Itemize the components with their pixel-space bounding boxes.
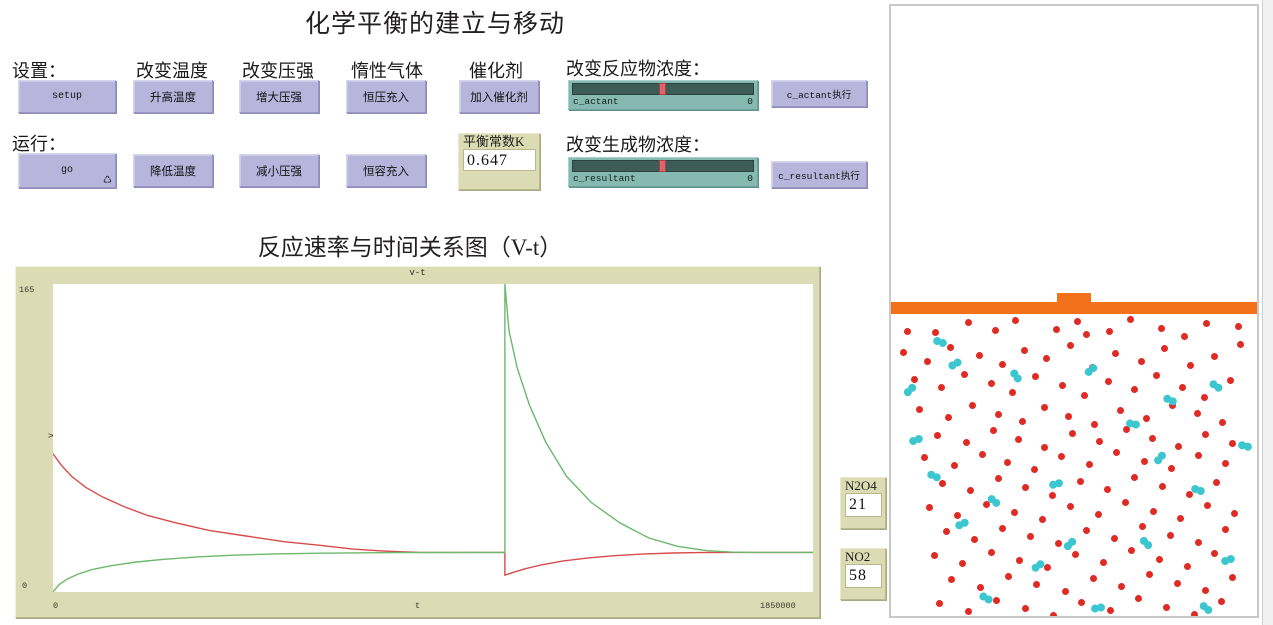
molecule-no2 bbox=[1235, 323, 1242, 330]
n2o4-count-monitor: N2O4 21 bbox=[840, 477, 886, 529]
molecule-n2o4 bbox=[1220, 554, 1236, 566]
c-actant-slider[interactable]: c_actant 0 bbox=[568, 80, 758, 110]
molecule-no2 bbox=[999, 525, 1006, 532]
molecule-no2 bbox=[1016, 557, 1023, 564]
molecule-no2 bbox=[939, 480, 946, 487]
c-actant-slider-varname: c_actant bbox=[573, 96, 619, 107]
vt-plot-widget[interactable]: v-t 165 0 v 0 1850000 t bbox=[15, 266, 820, 618]
molecule-no2 bbox=[1062, 588, 1069, 595]
molecule-no2 bbox=[1194, 410, 1201, 417]
molecule-no2 bbox=[1149, 435, 1156, 442]
molecule-no2 bbox=[1179, 384, 1186, 391]
molecule-no2 bbox=[1012, 317, 1019, 324]
go-button[interactable]: go ♺ bbox=[18, 153, 116, 188]
molecule-no2 bbox=[1049, 492, 1056, 499]
molecule-n2o4 bbox=[932, 336, 948, 348]
molecule-n2o4 bbox=[1009, 368, 1024, 384]
molecule-no2 bbox=[1058, 453, 1065, 460]
molecule-no2 bbox=[988, 549, 995, 556]
lower-temp-button-label: 降低温度 bbox=[150, 163, 196, 179]
molecule-no2 bbox=[1135, 595, 1142, 602]
molecule-no2 bbox=[1141, 458, 1148, 465]
molecule-no2 bbox=[1222, 526, 1229, 533]
add-gas-const-volume-button-label: 恒容充入 bbox=[363, 163, 409, 179]
molecule-no2 bbox=[948, 576, 955, 583]
molecule-no2 bbox=[1041, 404, 1048, 411]
molecule-no2 bbox=[945, 414, 952, 421]
piston[interactable] bbox=[891, 302, 1257, 314]
molecule-no2 bbox=[1195, 452, 1202, 459]
molecule-no2 bbox=[1107, 607, 1114, 614]
molecule-no2 bbox=[969, 402, 976, 409]
molecule-no2 bbox=[1015, 436, 1022, 443]
chart-heading: 反应速率与时间关系图（V-t） bbox=[10, 228, 810, 262]
molecule-no2 bbox=[931, 552, 938, 559]
n2o4-count-value: 21 bbox=[845, 493, 882, 517]
lower-temp-button[interactable]: 降低温度 bbox=[133, 154, 213, 187]
decrease-pressure-button-label: 减小压强 bbox=[256, 163, 302, 179]
n2o4-count-label: N2O4 bbox=[845, 479, 882, 493]
molecule-no2 bbox=[904, 328, 911, 335]
molecule-n2o4 bbox=[908, 434, 924, 446]
molecule-no2 bbox=[977, 584, 984, 591]
add-catalyst-button-label: 加入催化剂 bbox=[470, 89, 528, 105]
molecule-no2 bbox=[943, 528, 950, 535]
molecule-no2 bbox=[961, 371, 968, 378]
molecule-no2 bbox=[1184, 563, 1191, 570]
molecule-no2 bbox=[926, 504, 933, 511]
increase-pressure-button[interactable]: 增大压强 bbox=[239, 80, 319, 113]
molecule-no2 bbox=[1229, 440, 1236, 447]
molecule-n2o4 bbox=[1030, 559, 1046, 574]
x-axis-label: t bbox=[16, 601, 819, 611]
molecule-no2 bbox=[936, 600, 943, 607]
molecule-no2 bbox=[1078, 599, 1085, 606]
molecule-no2 bbox=[1111, 535, 1118, 542]
c-resultant-slider[interactable]: c_resultant 0 bbox=[568, 157, 758, 187]
molecule-no2 bbox=[1077, 478, 1084, 485]
y-axis-min-label: 0 bbox=[22, 581, 27, 591]
add-gas-const-pressure-button-label: 恒压充入 bbox=[363, 89, 409, 105]
molecule-no2 bbox=[1117, 407, 1124, 414]
molecule-no2 bbox=[1041, 444, 1048, 451]
molecule-no2 bbox=[1053, 326, 1060, 333]
molecule-no2 bbox=[932, 329, 939, 336]
molecule-no2 bbox=[1050, 612, 1057, 618]
molecule-no2 bbox=[1218, 598, 1225, 605]
molecule-no2 bbox=[954, 512, 961, 519]
molecule-no2 bbox=[1213, 479, 1220, 486]
molecule-no2 bbox=[1181, 333, 1188, 340]
molecule-n2o4 bbox=[1237, 440, 1253, 451]
molecule-no2 bbox=[959, 560, 966, 567]
molecule-no2 bbox=[1219, 419, 1226, 426]
molecule-no2 bbox=[1138, 358, 1145, 365]
molecule-no2 bbox=[1163, 604, 1170, 611]
c-actant-slider-value: 0 bbox=[747, 96, 753, 107]
add-gas-const-volume-button[interactable]: 恒容充入 bbox=[346, 154, 426, 187]
caption-product-conc: 改变生成物浓度： bbox=[566, 131, 710, 157]
molecule-no2 bbox=[1202, 587, 1209, 594]
molecule-no2 bbox=[976, 352, 983, 359]
molecule-no2 bbox=[1191, 611, 1198, 618]
molecule-no2 bbox=[1100, 559, 1107, 566]
molecule-no2 bbox=[1022, 484, 1029, 491]
molecule-n2o4 bbox=[902, 382, 918, 398]
molecule-no2 bbox=[1095, 511, 1102, 518]
molecule-n2o4 bbox=[947, 357, 963, 371]
molecule-no2 bbox=[938, 384, 945, 391]
setup-button-label: setup bbox=[52, 91, 82, 102]
molecule-no2 bbox=[947, 344, 954, 351]
molecule-no2 bbox=[1081, 392, 1088, 399]
molecule-no2 bbox=[1211, 550, 1218, 557]
add-catalyst-button[interactable]: 加入催化剂 bbox=[459, 80, 539, 113]
molecule-no2 bbox=[1204, 502, 1211, 509]
molecule-no2 bbox=[1091, 421, 1098, 428]
molecule-no2 bbox=[921, 454, 928, 461]
setup-button[interactable]: setup bbox=[18, 80, 116, 113]
c-resultant-slider-track[interactable] bbox=[572, 160, 754, 172]
molecule-no2 bbox=[1231, 510, 1238, 517]
no2-count-value: 58 bbox=[845, 564, 882, 588]
molecule-no2 bbox=[900, 349, 907, 356]
c-resultant-run-button[interactable]: c_resultant执行 bbox=[771, 161, 867, 188]
molecule-no2 bbox=[1211, 353, 1218, 360]
molecule-no2 bbox=[1022, 605, 1029, 612]
molecule-no2 bbox=[1059, 382, 1066, 389]
molecule-no2 bbox=[1153, 372, 1160, 379]
molecule-no2 bbox=[1128, 547, 1135, 554]
c-actant-slider-thumb[interactable] bbox=[659, 83, 666, 95]
molecule-no2 bbox=[1131, 474, 1138, 481]
molecule-no2 bbox=[1069, 430, 1076, 437]
molecule-n2o4 bbox=[978, 591, 994, 605]
molecule-no2 bbox=[1005, 573, 1012, 580]
no2-count-label: NO2 bbox=[845, 550, 882, 564]
molecule-no2 bbox=[1202, 431, 1209, 438]
molecule-no2 bbox=[951, 462, 958, 469]
molecule-no2 bbox=[1021, 347, 1028, 354]
molecule-no2 bbox=[1127, 316, 1134, 323]
molecule-no2 bbox=[1004, 459, 1011, 466]
molecule-no2 bbox=[971, 536, 978, 543]
molecule-no2 bbox=[1159, 483, 1166, 490]
molecule-no2 bbox=[1083, 331, 1090, 338]
c-resultant-slider-thumb[interactable] bbox=[659, 160, 666, 172]
equilibrium-constant-label: 平衡常数K bbox=[463, 135, 536, 149]
molecule-n2o4 bbox=[1138, 535, 1154, 551]
molecule-no2 bbox=[1031, 466, 1038, 473]
molecule-no2 bbox=[1174, 580, 1181, 587]
c-actant-run-button-label: c_actant执行 bbox=[787, 87, 852, 101]
increase-pressure-button-label: 增大压强 bbox=[256, 89, 302, 105]
molecule-no2 bbox=[1027, 533, 1034, 540]
caption-reactant-conc: 改变反应物浓度： bbox=[566, 55, 710, 81]
molecule-no2 bbox=[965, 608, 972, 615]
equilibrium-constant-value: 0.647 bbox=[463, 149, 536, 171]
decrease-pressure-button[interactable]: 减小压强 bbox=[239, 154, 319, 187]
molecule-no2 bbox=[967, 487, 974, 494]
molecule-no2 bbox=[1032, 373, 1039, 380]
plot-svg bbox=[53, 284, 813, 592]
molecule-no2 bbox=[992, 327, 999, 334]
c-resultant-slider-varname: c_resultant bbox=[573, 173, 636, 184]
molecule-no2 bbox=[1065, 413, 1072, 420]
molecule-no2 bbox=[1177, 515, 1184, 522]
molecule-no2 bbox=[1090, 575, 1097, 582]
equilibrium-constant-monitor: 平衡常数K 0.647 bbox=[458, 133, 540, 190]
molecule-no2 bbox=[1187, 362, 1194, 369]
molecule-no2 bbox=[1222, 460, 1229, 467]
molecule-no2 bbox=[1039, 516, 1046, 523]
molecule-no2 bbox=[1161, 345, 1168, 352]
molecule-no2 bbox=[1168, 465, 1175, 472]
container-view[interactable] bbox=[889, 4, 1259, 618]
molecule-no2 bbox=[1139, 523, 1146, 530]
molecule-no2 bbox=[965, 319, 972, 326]
molecule-n2o4 bbox=[1062, 536, 1078, 552]
page-title: 化学平衡的建立与移动 bbox=[0, 4, 870, 40]
molecule-n2o4 bbox=[1208, 379, 1224, 394]
molecule-n2o4 bbox=[1083, 362, 1099, 377]
molecule-no2 bbox=[1237, 341, 1244, 348]
molecule-no2 bbox=[995, 411, 1002, 418]
go-button-label: go bbox=[61, 165, 73, 176]
molecule-no2 bbox=[999, 361, 1006, 368]
c-resultant-slider-value: 0 bbox=[747, 173, 753, 184]
molecule-no2 bbox=[1143, 415, 1150, 422]
molecule-no2 bbox=[1083, 527, 1090, 534]
molecule-no2 bbox=[1118, 583, 1125, 590]
molecule-no2 bbox=[1009, 389, 1016, 396]
molecule-no2 bbox=[1011, 509, 1018, 516]
molecule-no2 bbox=[963, 439, 970, 446]
c-actant-run-button[interactable]: c_actant执行 bbox=[771, 80, 867, 107]
molecule-no2 bbox=[1067, 503, 1074, 510]
molecule-no2 bbox=[1150, 508, 1157, 515]
y-axis-max-label: 165 bbox=[19, 285, 34, 295]
molecule-no2 bbox=[990, 427, 997, 434]
molecule-no2 bbox=[1201, 394, 1208, 401]
molecule-no2 bbox=[1067, 342, 1074, 349]
raise-temp-button[interactable]: 升高温度 bbox=[133, 80, 213, 113]
plot-canvas bbox=[53, 284, 813, 592]
molecule-no2 bbox=[1043, 355, 1050, 362]
molecule-no2 bbox=[916, 406, 923, 413]
molecule-n2o4 bbox=[1152, 450, 1167, 466]
molecule-no2 bbox=[1227, 377, 1234, 384]
molecule-no2 bbox=[1175, 443, 1182, 450]
no2-count-monitor: NO2 58 bbox=[840, 548, 886, 600]
molecule-no2 bbox=[1113, 449, 1120, 456]
molecule-no2 bbox=[1096, 438, 1103, 445]
molecule-no2 bbox=[988, 380, 995, 387]
molecule-no2 bbox=[1112, 350, 1119, 357]
c-resultant-run-button-label: c_resultant执行 bbox=[778, 168, 860, 182]
molecule-n2o4 bbox=[1048, 478, 1064, 489]
molecule-no2 bbox=[1074, 318, 1081, 325]
molecule-no2 bbox=[1146, 571, 1153, 578]
molecule-n2o4 bbox=[1090, 603, 1105, 613]
molecule-no2 bbox=[1019, 418, 1026, 425]
loop-icon: ♺ bbox=[103, 176, 112, 186]
molecule-no2 bbox=[1195, 539, 1202, 546]
molecule-no2 bbox=[1203, 320, 1210, 327]
molecule-n2o4 bbox=[1198, 600, 1214, 615]
molecule-no2 bbox=[1104, 486, 1111, 493]
molecule-no2 bbox=[924, 358, 931, 365]
molecule-no2 bbox=[979, 451, 986, 458]
molecule-n2o4 bbox=[954, 517, 970, 530]
vertical-scrollbar[interactable] bbox=[1262, 0, 1273, 625]
molecule-no2 bbox=[1055, 540, 1062, 547]
molecule-no2 bbox=[1072, 551, 1079, 558]
raise-temp-button-label: 升高温度 bbox=[150, 89, 196, 105]
series-reverse-rate bbox=[53, 284, 813, 592]
molecule-no2 bbox=[934, 432, 941, 439]
molecule-no2 bbox=[995, 475, 1002, 482]
molecule-no2 bbox=[1158, 325, 1165, 332]
molecule-no2 bbox=[1156, 556, 1163, 563]
molecule-no2 bbox=[1033, 581, 1040, 588]
add-gas-const-pressure-button[interactable]: 恒压充入 bbox=[346, 80, 426, 113]
molecule-no2 bbox=[1105, 378, 1112, 385]
molecule-no2 bbox=[1106, 328, 1113, 335]
c-actant-slider-track[interactable] bbox=[572, 83, 754, 95]
molecule-no2 bbox=[1086, 461, 1093, 468]
series-forward-rate bbox=[53, 454, 813, 575]
plot-title: v-t bbox=[16, 268, 819, 278]
molecule-no2 bbox=[1229, 574, 1236, 581]
molecule-no2 bbox=[1122, 499, 1129, 506]
molecule-no2 bbox=[1167, 532, 1174, 539]
molecule-no2 bbox=[1131, 386, 1138, 393]
